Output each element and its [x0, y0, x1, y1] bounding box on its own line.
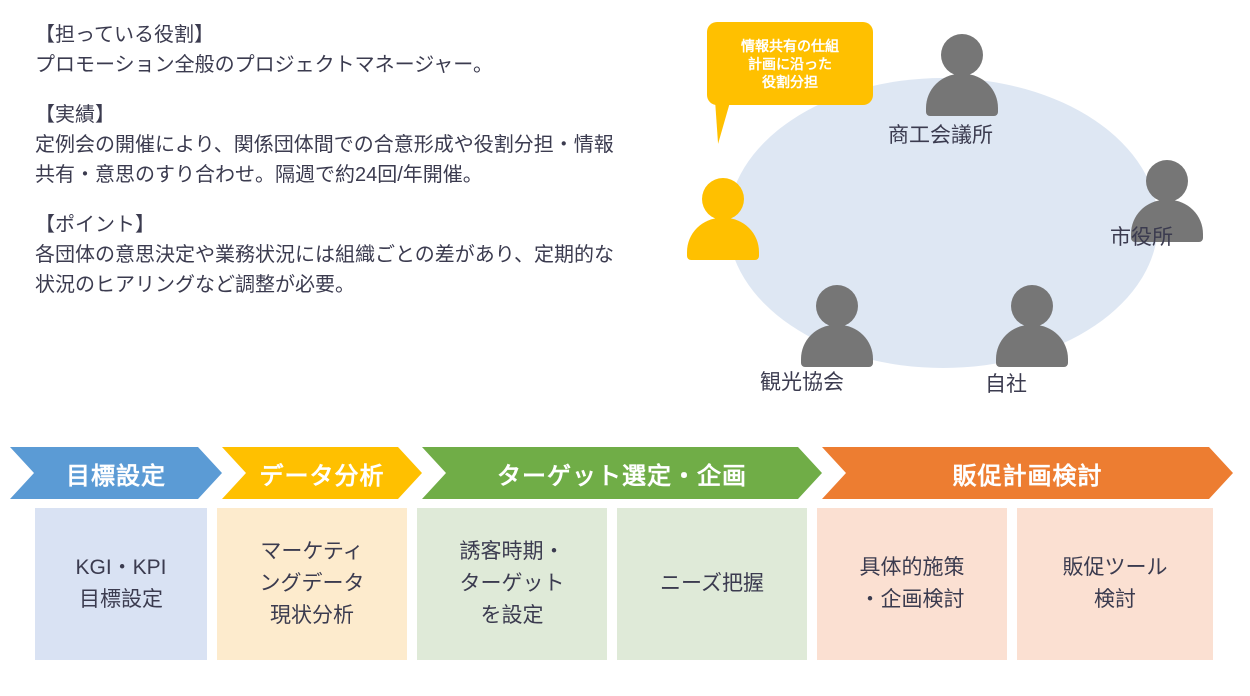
- detail-box-marketing-data[interactable]: マーケティ ングデータ 現状分析: [217, 508, 407, 660]
- person-head-icon: [941, 34, 983, 76]
- person-body-icon: [801, 325, 873, 367]
- section-body: プロモーション全般のプロジェクトマネージャー。: [35, 50, 615, 80]
- person-label-tourism-association: 観光協会: [760, 370, 844, 396]
- process-step-label: データ分析: [260, 456, 385, 491]
- section-body: 定例会の開催により、関係団体間での合意形成や役割分担・情報共有・意思のすり合わせ…: [35, 130, 615, 190]
- section-heading: 【担っている役割】: [35, 20, 615, 50]
- person-icon-self: [686, 178, 760, 260]
- process-step-data-analysis[interactable]: データ分析: [222, 447, 422, 499]
- process-step-label: ターゲット選定・企画: [497, 456, 747, 491]
- person-head-icon: [702, 178, 744, 220]
- person-label-own-company: 自社: [985, 372, 1027, 398]
- process-step-label: 販促計画検討: [953, 456, 1103, 491]
- person-body-icon: [996, 325, 1068, 367]
- process-step-promotion-planning[interactable]: 販促計画検討: [822, 447, 1233, 499]
- description-text-block: 【担っている役割】 プロモーション全般のプロジェクトマネージャー。 【実績】 定…: [35, 20, 615, 380]
- detail-box-target-timing[interactable]: 誘客時期・ ターゲット を設定: [417, 508, 607, 660]
- person-body-icon: [687, 218, 759, 260]
- detail-box-promotion-tools[interactable]: 販促ツール 検討: [1017, 508, 1213, 660]
- section-heading: 【ポイント】: [35, 210, 615, 240]
- person-icon-chamber-of-commerce: [925, 34, 999, 116]
- detail-box-needs-grasp[interactable]: ニーズ把握: [617, 508, 807, 660]
- speech-bubble: 情報共有の仕組 計画に沿った 役割分担: [707, 22, 873, 105]
- stakeholder-diagram: 情報共有の仕組 計画に沿った 役割分担 商工会議所 市役所 観光協会 自社: [660, 0, 1250, 420]
- person-label-city-hall: 市役所: [1110, 225, 1173, 251]
- person-label-chamber-of-commerce: 商工会議所: [888, 123, 993, 149]
- text-section: 【担っている役割】 プロモーション全般のプロジェクトマネージャー。: [35, 20, 615, 80]
- detail-box-kgi-kpi[interactable]: KGI・KPI 目標設定: [35, 508, 207, 660]
- person-icon-tourism-association: [800, 285, 874, 367]
- text-section: 【ポイント】 各団体の意思決定や業務状況には組織ごとの差があり、定期的な状況のヒ…: [35, 210, 615, 300]
- process-flow-banner: 目標設定 データ分析 ターゲット選定・企画 販促計画検討: [0, 447, 1250, 499]
- process-step-label: 目標設定: [66, 456, 166, 491]
- person-head-icon: [1146, 160, 1188, 202]
- text-section: 【実績】 定例会の開催により、関係団体間での合意形成や役割分担・情報共有・意思の…: [35, 100, 615, 190]
- section-heading: 【実績】: [35, 100, 615, 130]
- process-step-goal-setting[interactable]: 目標設定: [10, 447, 222, 499]
- detail-box-concrete-measures[interactable]: 具体的施策 ・企画検討: [817, 508, 1007, 660]
- speech-bubble-tail-icon: [715, 99, 734, 144]
- person-head-icon: [816, 285, 858, 327]
- person-head-icon: [1011, 285, 1053, 327]
- person-icon-own-company: [995, 285, 1069, 367]
- process-detail-boxes: KGI・KPI 目標設定 マーケティ ングデータ 現状分析 誘客時期・ ターゲッ…: [0, 508, 1250, 660]
- process-step-target-selection[interactable]: ターゲット選定・企画: [422, 447, 822, 499]
- person-body-icon: [926, 74, 998, 116]
- section-body: 各団体の意思決定や業務状況には組織ごとの差があり、定期的な状況のヒアリングなど調…: [35, 240, 615, 300]
- speech-bubble-text: 情報共有の仕組 計画に沿った 役割分担: [741, 37, 839, 91]
- collaboration-ellipse: [728, 78, 1158, 368]
